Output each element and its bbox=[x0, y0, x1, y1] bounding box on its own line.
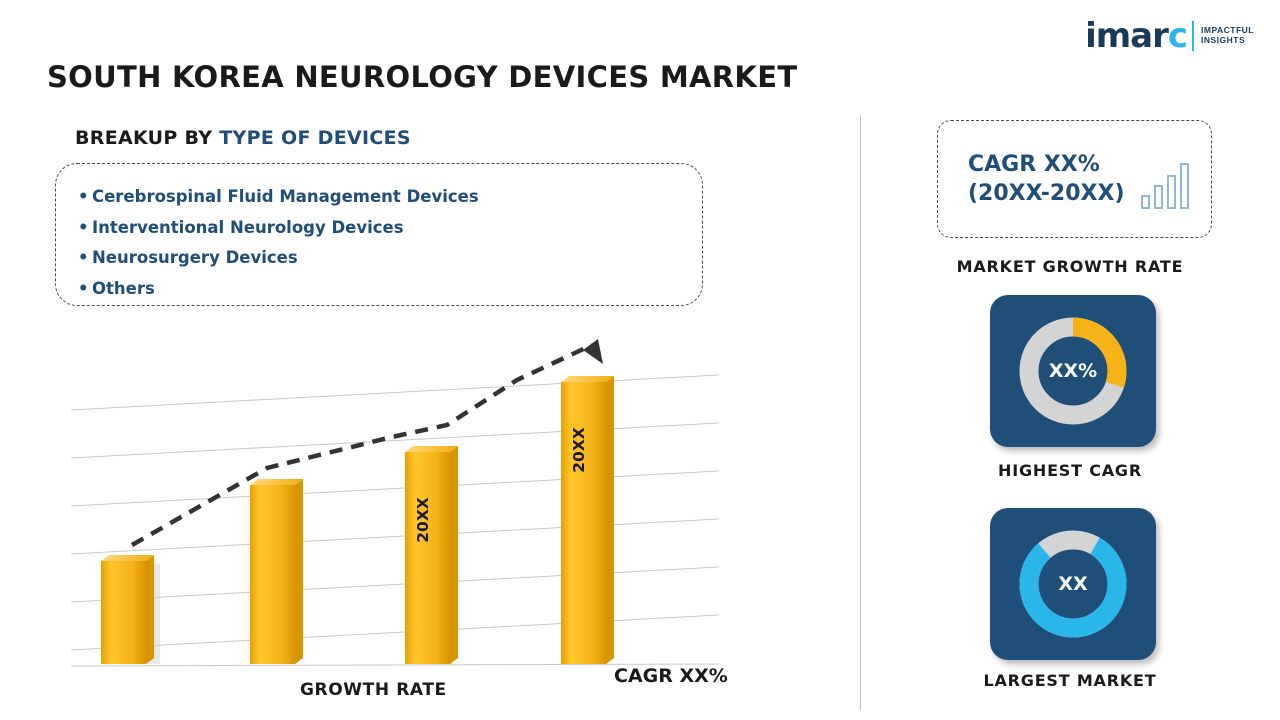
chart-cagr-label: CAGR XX% bbox=[614, 665, 728, 687]
largest-market-tile: XX bbox=[990, 508, 1156, 660]
growth-bar-chart: 20XX 20XX CAGR XX% bbox=[47, 330, 767, 710]
caption-market-growth-rate: MARKET GROWTH RATE bbox=[860, 257, 1280, 276]
list-item-label: Interventional Neurology Devices bbox=[92, 218, 404, 237]
chart-axis-label: GROWTH RATE bbox=[300, 680, 447, 700]
logo-wordmark: imarc bbox=[1085, 16, 1187, 56]
chart-bar-4: 20XX bbox=[561, 376, 614, 664]
list-item: •Cerebrospinal Fluid Management Devices bbox=[78, 182, 702, 213]
caption-highest-cagr: HIGHEST CAGR bbox=[860, 461, 1280, 480]
bullet-icon: • bbox=[78, 243, 92, 274]
bar-label-3: 20XX bbox=[414, 497, 432, 543]
slide-root: imarc IMPACTFUL INSIGHTS SOUTH KOREA NEU… bbox=[0, 0, 1280, 720]
subtitle-accent: TYPE OF DEVICES bbox=[219, 127, 411, 149]
vertical-divider bbox=[860, 115, 861, 710]
logo-text-main: imar bbox=[1085, 16, 1168, 56]
bullet-icon: • bbox=[78, 274, 92, 305]
market-growth-rate-box: CAGR XX% (20XX-20XX) bbox=[937, 120, 1212, 238]
bar-label-4: 20XX bbox=[570, 427, 588, 473]
caption-largest-market: LARGEST MARKET bbox=[860, 671, 1280, 690]
donut-value-highest-cagr: XX% bbox=[990, 360, 1156, 382]
donut-value-largest-market: XX bbox=[990, 573, 1156, 595]
list-item: •Neurosurgery Devices bbox=[78, 243, 702, 274]
logo-divider bbox=[1192, 21, 1194, 51]
subtitle-static: BREAKUP BY bbox=[75, 127, 219, 149]
cagr-text: CAGR XX% (20XX-20XX) bbox=[968, 150, 1125, 208]
imarc-logo: imarc IMPACTFUL INSIGHTS bbox=[1085, 16, 1254, 56]
chart-bar-2 bbox=[250, 479, 303, 664]
breakup-list-box: •Cerebrospinal Fluid Management Devices … bbox=[55, 163, 703, 306]
chart-bar-1 bbox=[101, 555, 160, 664]
logo-tagline: IMPACTFUL INSIGHTS bbox=[1201, 26, 1254, 46]
logo-text-accent: c bbox=[1168, 16, 1187, 56]
growth-bars-icon bbox=[1141, 163, 1189, 209]
bullet-icon: • bbox=[78, 182, 92, 213]
list-item: •Others bbox=[78, 274, 702, 305]
chart-gridlines bbox=[71, 375, 719, 666]
list-item-label: Others bbox=[92, 279, 155, 298]
page-title: SOUTH KOREA NEUROLOGY DEVICES MARKET bbox=[47, 60, 797, 94]
chart-bar-3: 20XX bbox=[405, 446, 458, 664]
section-subtitle: BREAKUP BY TYPE OF DEVICES bbox=[75, 127, 411, 149]
highest-cagr-tile: XX% bbox=[990, 295, 1156, 447]
list-item-label: Neurosurgery Devices bbox=[92, 248, 298, 267]
list-item: •Interventional Neurology Devices bbox=[78, 213, 702, 244]
logo-tagline-line2: INSIGHTS bbox=[1201, 36, 1254, 46]
cagr-line1: CAGR XX% bbox=[968, 150, 1125, 179]
cagr-line2: (20XX-20XX) bbox=[968, 179, 1125, 208]
chart-svg: 20XX 20XX bbox=[47, 330, 767, 675]
bullet-icon: • bbox=[78, 213, 92, 244]
list-item-label: Cerebrospinal Fluid Management Devices bbox=[92, 187, 479, 206]
